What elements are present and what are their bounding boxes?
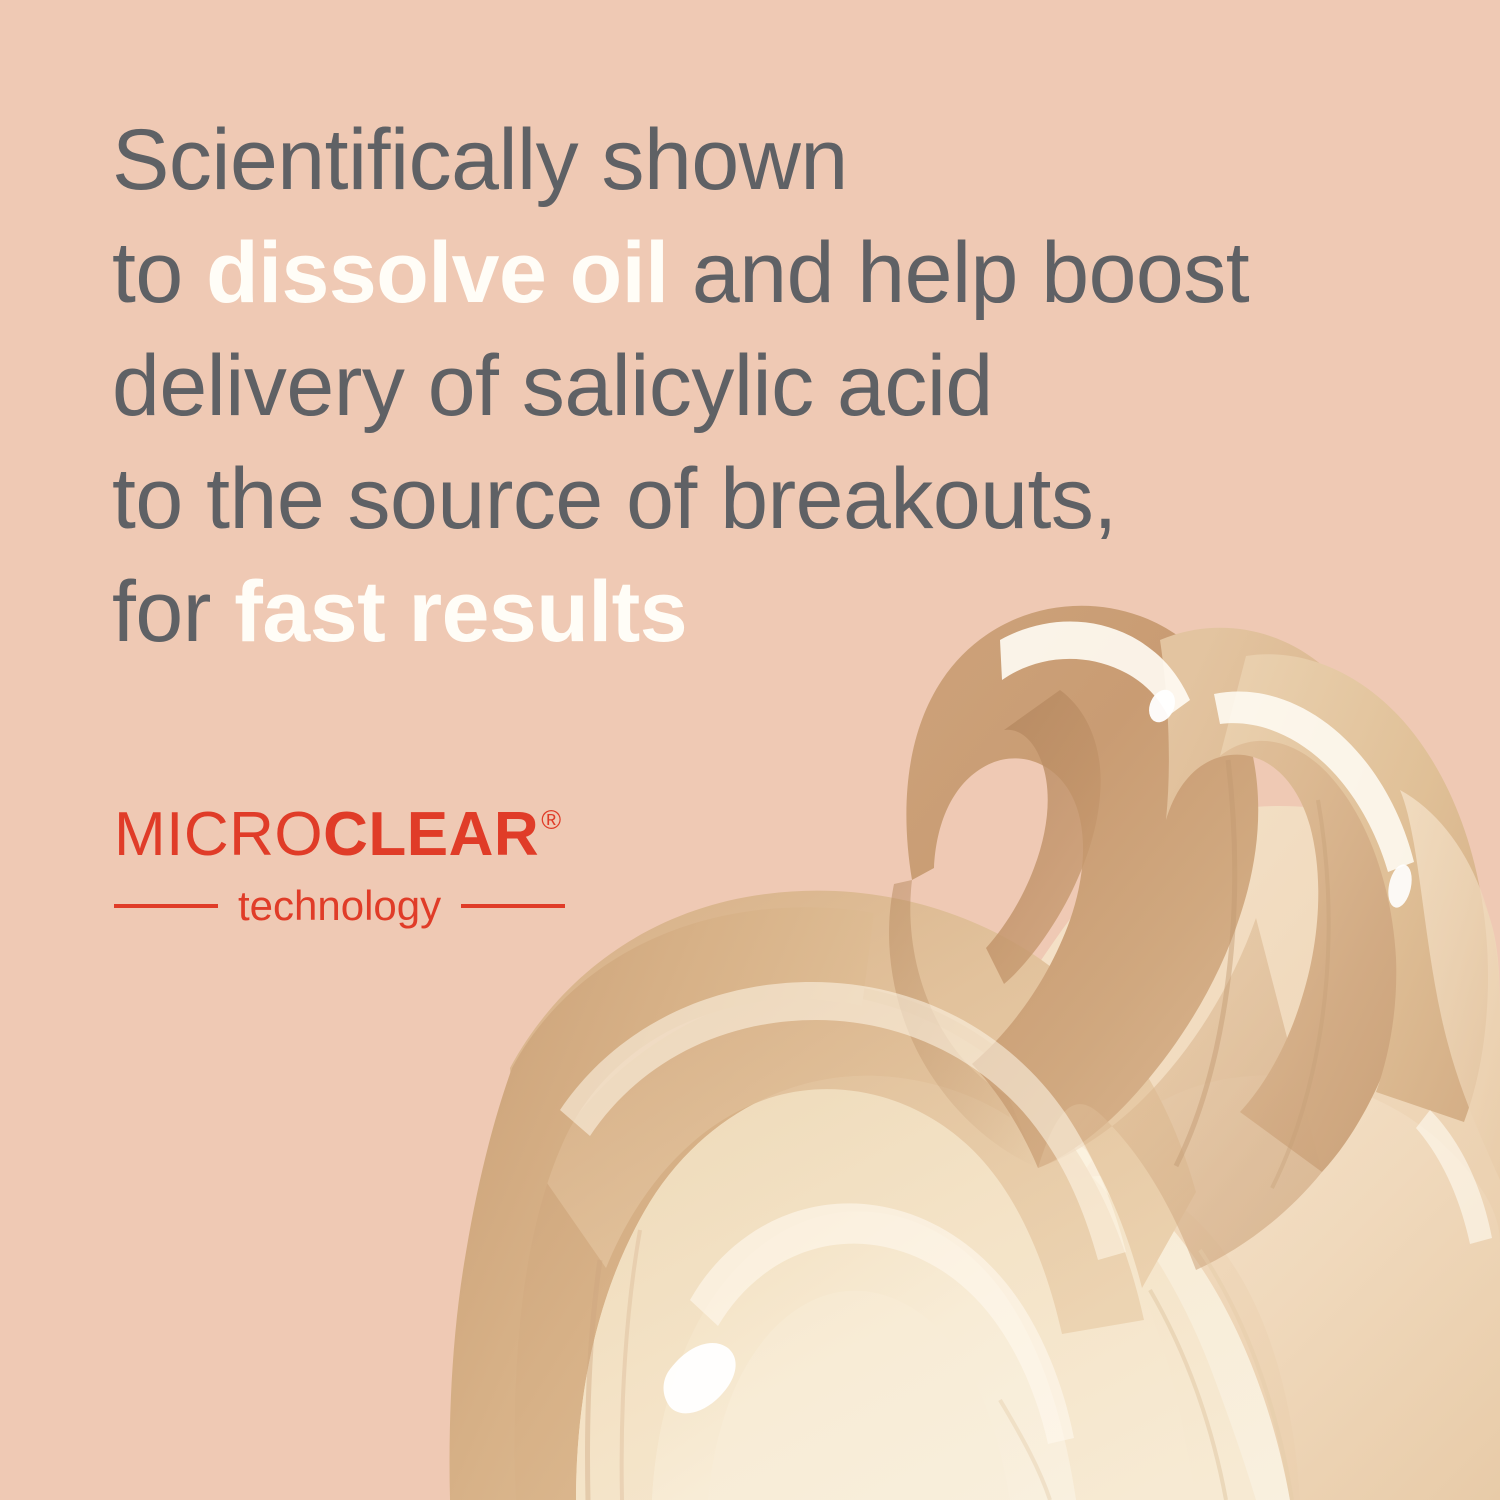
logo-rule-left <box>114 904 218 908</box>
headline-line-3: delivery of salicylic acid <box>112 330 1442 443</box>
microclear-wordmark: MICROCLEAR® <box>114 800 630 870</box>
headline-line-5-prefix: for <box>112 564 234 660</box>
headline-line-1: Scientifically shown <box>112 104 1442 217</box>
headline-line-4: to the source of breakouts, <box>112 443 1442 556</box>
headline-emphasis-fast-results: fast results <box>234 564 687 660</box>
headline-line-5: for fast results <box>112 556 1442 669</box>
logo-word-clear: CLEAR <box>323 800 539 869</box>
headline-line-1-text: Scientifically shown <box>112 112 848 208</box>
logo-word-micro: MICRO <box>114 800 323 869</box>
logo-tagline-row: technology <box>114 884 630 928</box>
headline-line-3-text: delivery of salicylic acid <box>112 338 993 434</box>
headline-line-4-text: to the source of breakouts, <box>112 451 1117 547</box>
microclear-logo: MICROCLEAR® technology <box>114 800 630 928</box>
headline-line-2-prefix: to <box>112 225 206 321</box>
headline-line-2-suffix: and help boost <box>669 225 1250 321</box>
headline-block: Scientifically shown to dissolve oil and… <box>112 104 1442 669</box>
logo-rule-right <box>461 904 565 908</box>
promo-canvas: Scientifically shown to dissolve oil and… <box>0 0 1500 1500</box>
headline-line-2: to dissolve oil and help boost <box>112 217 1442 330</box>
headline-emphasis-dissolve-oil: dissolve oil <box>206 225 668 321</box>
logo-tagline-technology: technology <box>218 884 461 928</box>
registered-trademark-icon: ® <box>541 805 561 835</box>
